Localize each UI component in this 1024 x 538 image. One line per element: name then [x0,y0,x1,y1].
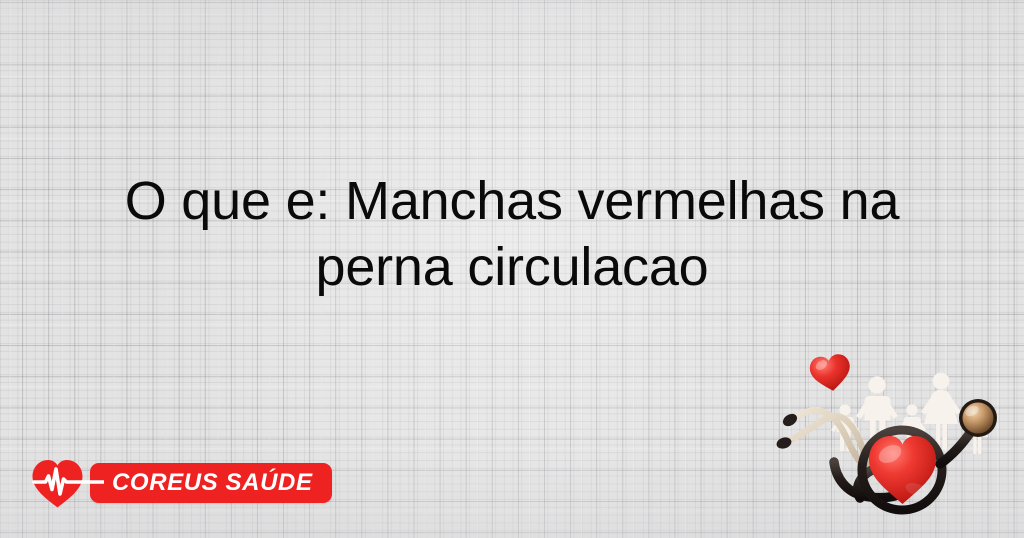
brand-name-badge: COREUS SAÚDE [90,463,332,503]
brand-logo[interactable]: COREUS SAÚDE [30,456,332,510]
slide-canvas: O que e: Manchas vermelhas na perna circ… [0,0,1024,538]
stethoscope-chestpiece-icon [959,399,997,437]
small-heart-icon [808,353,853,394]
heart-pulse-icon [30,456,104,510]
page-title: O que e: Manchas vermelhas na perna circ… [0,168,1024,301]
medical-health-collage [776,346,1020,536]
brand-name-label: COREUS SAÚDE [112,471,313,495]
